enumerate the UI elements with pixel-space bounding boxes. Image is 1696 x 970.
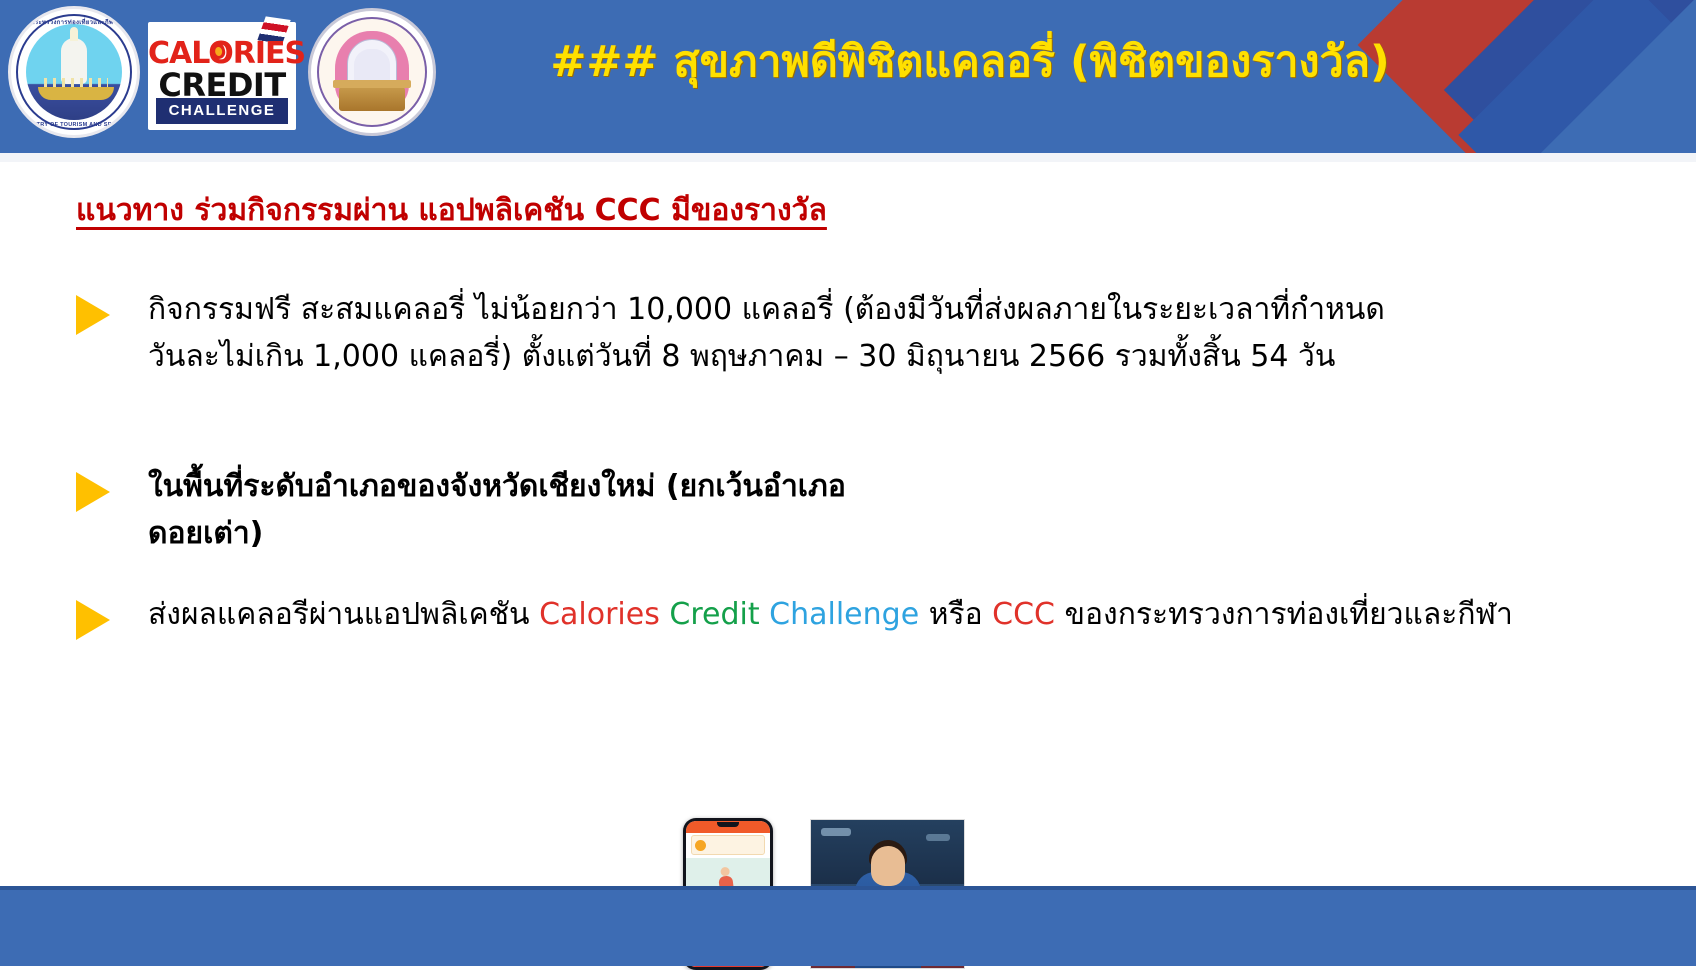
bullet-3-suffix: ของกระทรวงการท่องเที่ยวและกีฬา — [1055, 597, 1513, 632]
seal-disc — [26, 24, 122, 120]
chiang-mai-province-seal-icon — [308, 8, 436, 136]
footer-top-line — [0, 886, 1696, 890]
brand-word-credit: Credit — [669, 597, 759, 632]
brand-word-challenge: Challenge — [769, 597, 919, 632]
bullet-2-line-2: ดอยเต่า) — [148, 511, 846, 558]
phone-stat-card — [691, 835, 765, 855]
triangle-bullet-icon — [76, 472, 110, 512]
page-header: กระทรวงการท่องเที่ยวและกีฬา MINISTRY OF … — [0, 0, 1696, 153]
bullet-3-middle: หรือ — [919, 597, 992, 632]
section-heading: แนวทาง ร่วมกิจกรรมผ่าน แอปพลิเคชัน CCC ม… — [76, 187, 827, 234]
calories-credit-challenge-logo-icon: CALORIES CREDIT CHALLENGE — [148, 22, 296, 130]
bullet-3-prefix: ส่งผลแคลอรีผ่านแอปพลิเคชัน — [148, 597, 539, 632]
bullet-1-line-1: กิจกรรมฟรี สะสมแคลอรี่ ไม่น้อยกว่า 10,00… — [148, 287, 1385, 334]
ministry-of-tourism-and-sports-seal-icon: กระทรวงการท่องเที่ยวและกีฬา MINISTRY OF … — [8, 6, 140, 138]
triangle-bullet-icon — [76, 295, 110, 335]
bullet-3-text: ส่งผลแคลอรีผ่านแอปพลิเคชัน Calories Cred… — [148, 592, 1513, 639]
bullet-1-text: กิจกรรมฟรี สะสมแคลอรี่ ไม่น้อยกว่า 10,00… — [148, 287, 1385, 380]
seal-text-thai: กระทรวงการท่องเที่ยวและกีฬา — [11, 17, 137, 27]
province-seal-pedestal — [339, 87, 405, 111]
province-seal-ring — [317, 17, 427, 127]
seal-text-english: MINISTRY OF TOURISM AND SPORTS — [11, 122, 137, 128]
bullet-1-line-2: วันละไม่เกิน 1,000 แคลอรี่) ตั้งแต่วันที… — [148, 334, 1385, 381]
bullet-2-text: ในพื้นที่ระดับอำเภอของจังหวัดเชียงใหม่ (… — [148, 464, 846, 557]
seal-boat — [38, 87, 114, 100]
page-footer — [0, 886, 1696, 966]
photo-light — [821, 828, 851, 836]
phone-status-bar — [686, 821, 770, 833]
brand-word-calories: Calories — [539, 597, 660, 632]
bullet-2-line-1: ในพื้นที่ระดับอำเภอของจังหวัดเชียงใหม่ (… — [148, 464, 846, 511]
triangle-bullet-icon — [76, 600, 110, 640]
brand-word-ccc: CCC — [992, 597, 1055, 632]
slide-body: แนวทาง ร่วมกิจกรรมผ่าน แอปพลิเคชัน CCC ม… — [0, 162, 1696, 886]
header-divider — [0, 153, 1696, 162]
athlete-head — [871, 846, 905, 886]
logo-word-challenge: CHALLENGE — [156, 98, 288, 124]
photo-light — [926, 834, 950, 841]
page-title: ### สุขภาพดีพิชิตแคลอรี่ (พิชิตของรางวัล… — [470, 38, 1470, 87]
